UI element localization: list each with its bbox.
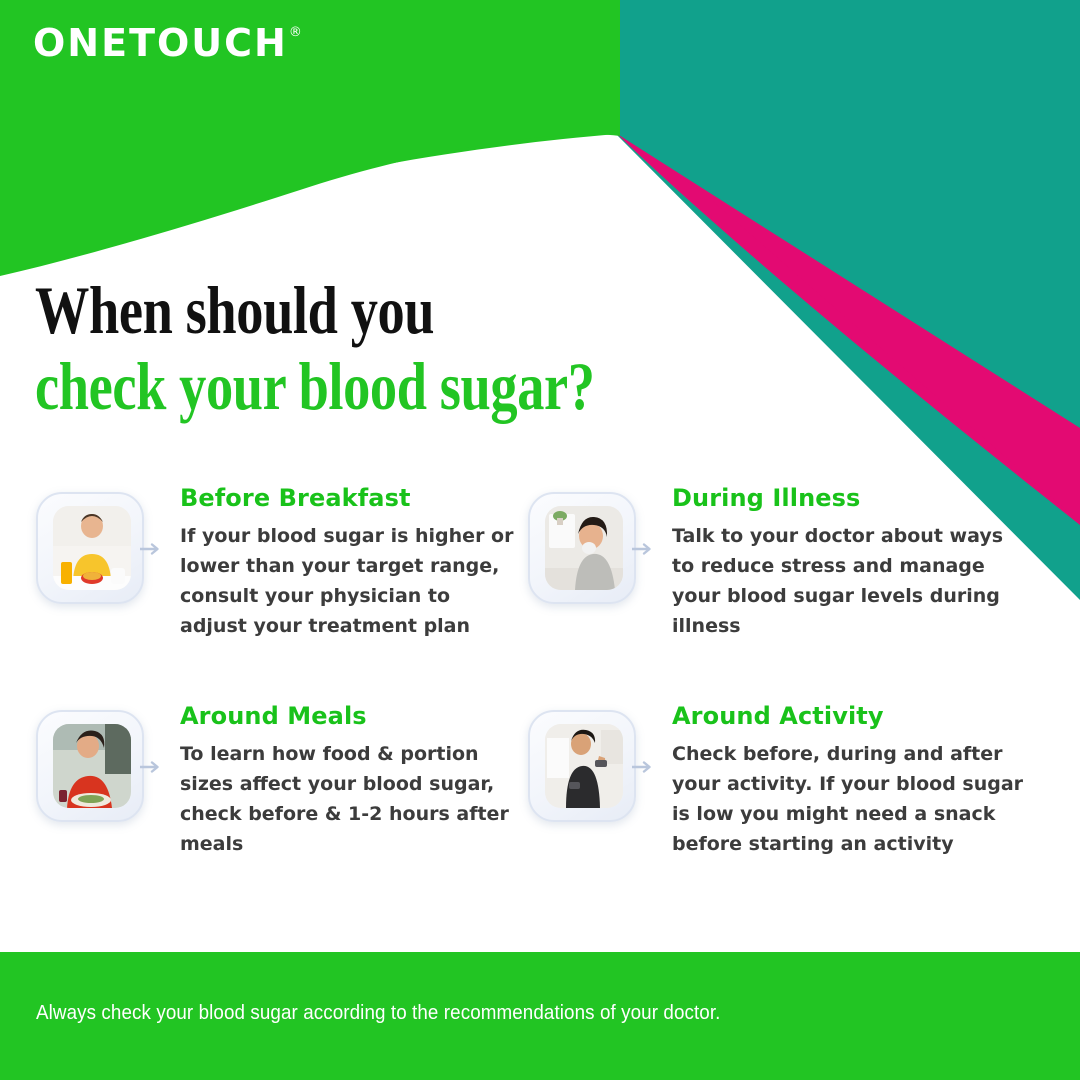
tip-card-before-breakfast: Before Breakfast If your blood sugar is … [0, 478, 520, 641]
tip-body: To learn how food & portion sizes affect… [180, 739, 520, 859]
man-lifting-dumbbell-photo [545, 724, 623, 808]
arrow-right-icon [632, 542, 654, 556]
tip-body: If your blood sugar is higher or lower t… [180, 521, 520, 641]
onetouch-logo: ONETOUCH ® [33, 24, 302, 62]
tips-row-2: Around Meals To learn how food & portion… [0, 696, 1080, 859]
tip-body: Check before, during and after your acti… [672, 739, 1024, 859]
thumbnail-around-meals [36, 710, 154, 830]
infographic-poster: ONETOUCH ® When should you check your bl… [0, 0, 1080, 1080]
arrow-right-icon [140, 760, 162, 774]
tip-card-around-meals: Around Meals To learn how food & portion… [0, 696, 520, 859]
thumbnail-around-activity [528, 710, 646, 830]
footer-note: Always check your blood sugar according … [36, 1002, 720, 1025]
tip-title: Before Breakfast [180, 484, 520, 512]
footer-bar: Always check your blood sugar according … [0, 952, 1080, 1080]
tip-text-block: During Illness Talk to your doctor about… [672, 478, 1024, 641]
tip-text-block: Around Activity Check before, during and… [672, 696, 1024, 859]
arrow-right-icon [632, 760, 654, 774]
thumbnail-before-breakfast [36, 492, 154, 612]
woman-eating-meal-photo [53, 724, 131, 808]
man-eating-breakfast-photo [53, 506, 131, 590]
arrow-right-icon [140, 542, 162, 556]
woman-sick-sneezing-photo [545, 506, 623, 590]
tips-grid: Before Breakfast If your blood sugar is … [0, 478, 1080, 859]
registered-trademark-icon: ® [289, 26, 302, 39]
tips-row-1: Before Breakfast If your blood sugar is … [0, 478, 1080, 641]
tip-text-block: Before Breakfast If your blood sugar is … [180, 478, 520, 641]
page-title: When should you check your blood sugar? [35, 272, 734, 424]
tip-text-block: Around Meals To learn how food & portion… [180, 696, 520, 859]
tip-card-around-activity: Around Activity Check before, during and… [520, 696, 1060, 859]
tip-body: Talk to your doctor about ways to reduce… [672, 521, 1024, 641]
headline-line-2: check your blood sugar? [35, 348, 595, 424]
tip-card-during-illness: During Illness Talk to your doctor about… [520, 478, 1060, 641]
logo-wordmark: ONETOUCH [33, 24, 288, 62]
headline-line-1: When should you [35, 272, 595, 348]
tip-title: During Illness [672, 484, 1024, 512]
tip-title: Around Meals [180, 702, 520, 730]
tip-title: Around Activity [672, 702, 1024, 730]
thumbnail-during-illness [528, 492, 646, 612]
